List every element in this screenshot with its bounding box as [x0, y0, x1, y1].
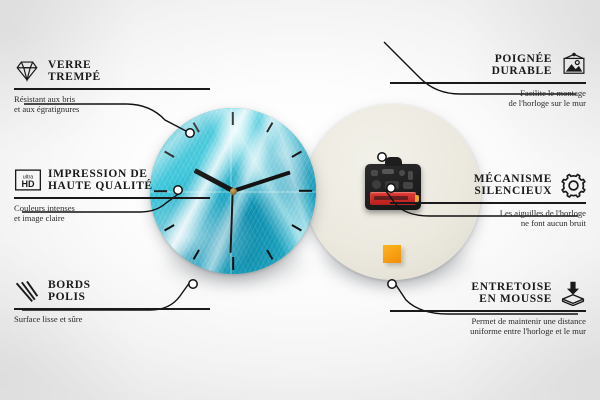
- feature-entretoise-en-mousse[interactable]: ENTRETOISEEN MOUSSE Permet de maintenir …: [390, 280, 586, 337]
- feature-verre-trempe[interactable]: VERRETREMPÉ Résistant aux briset aux égr…: [14, 58, 210, 115]
- feature-rule: [14, 88, 210, 90]
- svg-text:HD: HD: [21, 179, 35, 189]
- feature-title: IMPRESSION DEHAUTE QUALITÉ: [48, 168, 153, 193]
- feature-subtitle: Facilite le montagede l'horloge sur le m…: [390, 88, 586, 109]
- feature-poignee-durable[interactable]: POIGNÉEDURABLE Facilite le montagede l'h…: [390, 52, 586, 109]
- foam-spacer-pad: [383, 245, 401, 263]
- feature-rule: [390, 202, 586, 204]
- feature-subtitle: Couleurs intenseset image claire: [14, 203, 210, 224]
- feature-rule: [390, 310, 586, 312]
- feature-subtitle: Permet de maintenir une distanceuniforme…: [390, 316, 586, 337]
- feature-bords-polis[interactable]: BORDSPOLIS Surface lisse et sûre: [14, 278, 210, 324]
- diamond-icon: [14, 58, 40, 84]
- feature-title: BORDSPOLIS: [48, 279, 91, 304]
- infographic-canvas: VERRETREMPÉ Résistant aux briset aux égr…: [0, 0, 600, 400]
- feature-rule: [14, 197, 210, 199]
- feature-impression-haute-qualite[interactable]: ultra HD IMPRESSION DEHAUTE QUALITÉ Coul…: [14, 167, 210, 224]
- feature-subtitle: Résistant aux briset aux égratignures: [14, 94, 210, 115]
- feature-title: VERRETREMPÉ: [48, 59, 101, 84]
- mechanism-hanger-tab: [385, 157, 402, 166]
- feature-rule: [390, 82, 586, 84]
- feature-title: ENTRETOISEEN MOUSSE: [471, 281, 552, 306]
- picture-hanger-icon: [560, 52, 586, 78]
- feature-title: MÉCANISMESILENCIEUX: [474, 173, 552, 198]
- gear-icon: [560, 172, 586, 198]
- polished-edges-icon: [14, 278, 40, 304]
- feature-mecanisme-silencieux[interactable]: MÉCANISMESILENCIEUX Les aiguilles de l'h…: [390, 172, 586, 229]
- feature-title: POIGNÉEDURABLE: [492, 53, 552, 78]
- feature-subtitle: Les aiguilles de l'horlogene font aucun …: [390, 208, 586, 229]
- feature-rule: [14, 308, 210, 310]
- ultra-hd-icon: ultra HD: [14, 167, 40, 193]
- feature-subtitle: Surface lisse et sûre: [14, 314, 210, 325]
- foam-spacer-icon: [560, 280, 586, 306]
